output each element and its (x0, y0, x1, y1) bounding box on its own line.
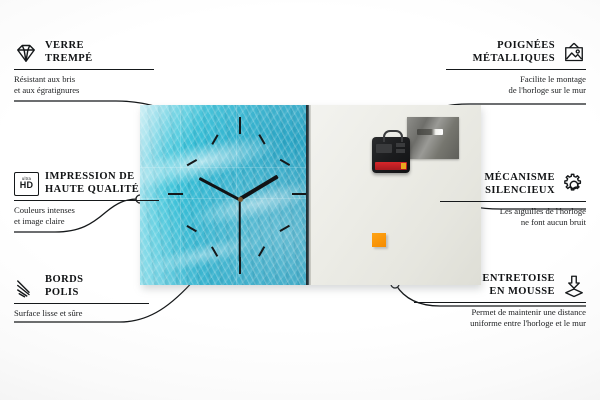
callout-divider (414, 302, 586, 303)
clock-mechanism (372, 137, 410, 173)
callout-title-line1: BORDS (45, 274, 83, 287)
callout-sub-line1: Surface lisse et sûre (14, 308, 149, 319)
callout-divider (14, 69, 154, 70)
callout-poignees-metalliques[interactable]: POIGNÉES MÉTALLIQUES Facilite le montage… (446, 40, 586, 95)
gear-icon (562, 173, 586, 197)
callout-sub-line2: de l'horloge sur le mur (446, 85, 586, 96)
callout-sub-line2: uniforme entre l'horloge et le mur (414, 318, 586, 329)
callout-title-line1: IMPRESSION DE (45, 171, 139, 184)
diamond-icon (14, 41, 38, 65)
callout-sub-line1: Facilite le montage (446, 74, 586, 85)
callout-title-line1: MÉCANISME (484, 172, 555, 185)
mechanism-hanging-loop (383, 130, 403, 142)
callout-sub-line1: Les aiguilles de l'horloge (440, 206, 586, 217)
clock-tick (211, 246, 218, 256)
ultra-hd-icon-large-text: HD (20, 181, 33, 190)
callout-verre-trempe[interactable]: VERRE TREMPÉ Résistant aux bris et aux é… (14, 40, 154, 95)
wall-mount-icon (562, 41, 586, 65)
clock-markers (140, 105, 308, 285)
hanger-plate (407, 117, 459, 159)
clock-tick (258, 246, 265, 256)
clock-tick (258, 134, 265, 144)
callout-divider (440, 201, 586, 202)
ultra-hd-icon: ultra HD (14, 172, 38, 196)
callout-title-line1: POIGNÉES (473, 40, 555, 53)
clock-tick (280, 159, 290, 166)
mechanism-battery (375, 162, 407, 170)
mechanism-detail (396, 149, 405, 153)
polished-edges-icon (14, 275, 38, 299)
callout-divider (14, 200, 159, 201)
callout-title-line1: VERRE (45, 40, 93, 53)
battery-terminal (401, 163, 406, 169)
callout-title-line2: POLIS (45, 287, 83, 300)
callout-title-line2: HAUTE QUALITÉ (45, 184, 139, 197)
callout-title-line2: EN MOUSSE (482, 286, 555, 299)
clock-tick (187, 225, 197, 232)
mechanism-detail (376, 144, 392, 153)
callout-title-line1: ENTRETOISE (482, 273, 555, 286)
callout-divider (446, 69, 586, 70)
callout-title-line2: SILENCIEUX (484, 185, 555, 198)
callout-impression-hd[interactable]: ultra HD IMPRESSION DE HAUTE QUALITÉ Cou… (14, 171, 159, 226)
callout-title-line2: TREMPÉ (45, 53, 93, 66)
foam-spacer-icon (562, 274, 586, 298)
clock-tick (187, 159, 197, 166)
foam-spacer (372, 233, 386, 247)
callout-bords-polis[interactable]: BORDS POLIS Surface lisse et sûre (14, 274, 149, 319)
mechanism-detail (396, 143, 405, 147)
clock-tick (211, 134, 218, 144)
callout-sub-line2: et image claire (14, 216, 159, 227)
callout-sub-line2: ne font aucun bruit (440, 217, 586, 228)
clock-tick (168, 193, 183, 195)
clock-face (140, 105, 308, 285)
callout-sub-line1: Permet de maintenir une distance (414, 307, 586, 318)
clock-hand-second (239, 199, 241, 261)
callout-title-line2: MÉTALLIQUES (473, 53, 555, 66)
callout-mecanisme-silencieux[interactable]: MÉCANISME SILENCIEUX Les aiguilles de l'… (440, 172, 586, 227)
callout-sub-line1: Résistant aux bris (14, 74, 154, 85)
callout-sub-line2: et aux égratignures (14, 85, 154, 96)
clock-tick (280, 225, 290, 232)
callout-divider (14, 303, 149, 304)
callout-entretoise-mousse[interactable]: ENTRETOISE EN MOUSSE Permet de maintenir… (414, 273, 586, 328)
hanger-slot (417, 129, 443, 135)
clock-tick (239, 117, 241, 134)
clock-center-hub (238, 197, 243, 202)
callout-sub-line1: Couleurs intenses (14, 205, 159, 216)
product-image (140, 105, 480, 285)
infographic-canvas: VERRE TREMPÉ Résistant aux bris et aux é… (0, 0, 600, 400)
